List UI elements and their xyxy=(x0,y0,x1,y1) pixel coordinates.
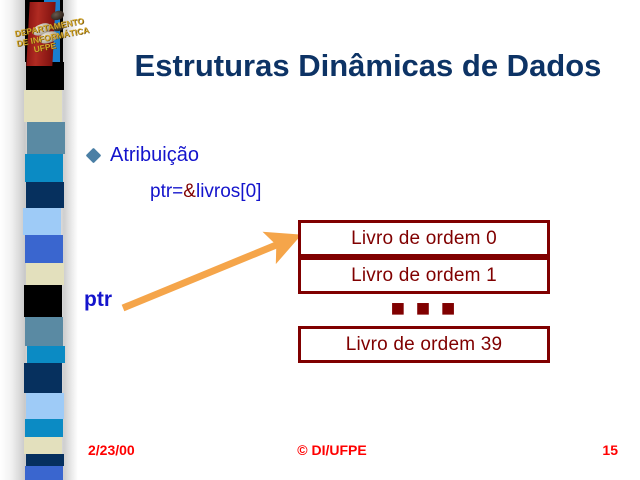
array-element-label: Livro de ordem 1 xyxy=(351,265,497,287)
color-stripe xyxy=(24,90,62,122)
array-element-box: Livro de ordem 1 xyxy=(298,257,550,294)
color-stripe xyxy=(26,393,64,419)
footer-date: 2/23/00 xyxy=(88,442,135,458)
code-expression: ptr=&livros[0] xyxy=(150,181,261,203)
ufpe-di-logo: DEPARTAMENTO DE INFORMÁTICA UFPE xyxy=(14,0,76,76)
color-stripe xyxy=(24,363,62,393)
array-element-label: Livro de ordem 0 xyxy=(351,228,497,250)
color-stripe xyxy=(25,235,63,263)
color-stripe xyxy=(25,419,63,437)
code-suffix: livros[0] xyxy=(196,181,261,202)
color-stripe xyxy=(27,346,65,363)
color-stripe xyxy=(25,317,63,346)
color-stripe xyxy=(25,466,63,480)
code-ampersand: & xyxy=(183,181,196,202)
color-stripe xyxy=(25,154,63,182)
slide-title: Estruturas Dinâmicas de Dados xyxy=(104,48,632,84)
array-element-box: Livro de ordem 0 xyxy=(298,220,550,257)
footer-page-number: 15 xyxy=(588,442,618,458)
color-stripe xyxy=(23,208,61,235)
color-stripe xyxy=(24,437,62,454)
pointer-arrow-icon xyxy=(118,225,303,315)
code-prefix: ptr= xyxy=(150,181,183,202)
bullet-item-atribuicao: Atribuição xyxy=(88,144,199,167)
array-element-box: Livro de ordem 39 xyxy=(298,326,550,363)
array-ellipsis: ■ ■ ■ xyxy=(298,296,550,322)
pointer-label: ptr xyxy=(84,288,112,312)
color-stripe xyxy=(26,454,64,466)
color-stripe xyxy=(26,263,64,285)
color-stripe xyxy=(26,182,64,208)
color-stripe xyxy=(24,285,62,317)
array-element-label: Livro de ordem 39 xyxy=(346,334,503,356)
color-stripe xyxy=(27,122,65,154)
slide-canvas: DEPARTAMENTO DE INFORMÁTICA UFPE Estrutu… xyxy=(0,0,640,480)
diamond-bullet-icon xyxy=(86,148,102,164)
bullet-label: Atribuição xyxy=(110,144,199,167)
footer-copyright: © DI/UFPE xyxy=(262,442,402,458)
